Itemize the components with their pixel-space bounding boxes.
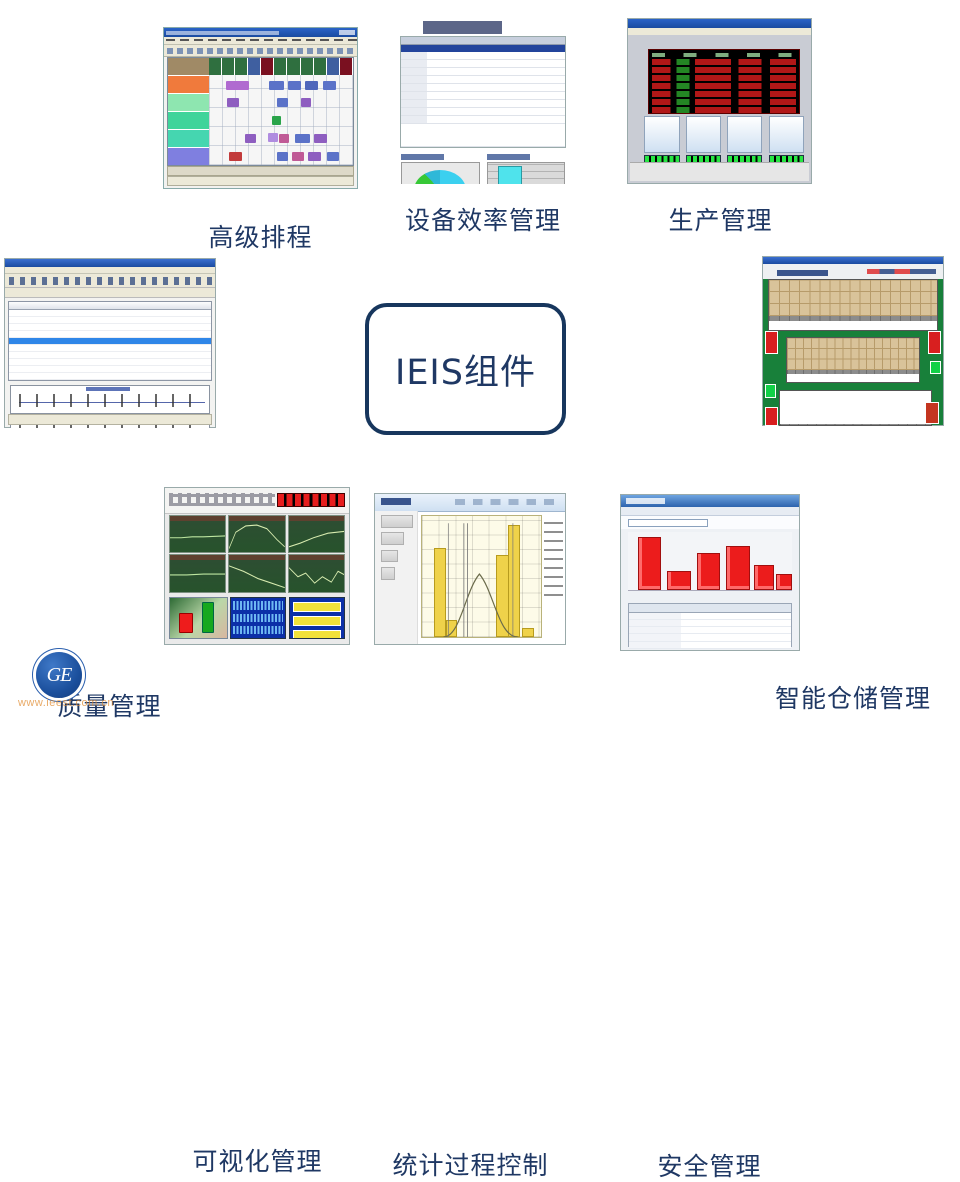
- quality-data-grid[interactable]: [8, 301, 212, 381]
- table-row[interactable]: [401, 45, 565, 52]
- module-quality-management[interactable]: 质量管理: [4, 258, 216, 428]
- module-safety-management[interactable]: 安全管理: [620, 494, 800, 651]
- pie-chart-caption: [401, 154, 444, 160]
- dashboard-toolbar: [165, 488, 349, 514]
- screenshot-quality-management: [4, 258, 216, 428]
- center-node-label: IEIS组件: [395, 344, 536, 395]
- report-title: [404, 21, 562, 34]
- screenshot-equipment-efficiency: [394, 18, 572, 184]
- table-row[interactable]: [629, 634, 791, 641]
- table-row[interactable]: [629, 620, 791, 627]
- gauge-row: [644, 116, 803, 154]
- rack-zone-1[interactable]: [768, 279, 937, 331]
- table-row[interactable]: [401, 60, 565, 68]
- rack-zone-3[interactable]: [779, 390, 932, 426]
- accident-bar-chart: [628, 532, 792, 590]
- pie-slices: [414, 170, 466, 184]
- trend-chart-grid: [169, 515, 346, 593]
- bar-chart-card: [487, 154, 566, 184]
- menu-bar: [628, 28, 811, 35]
- table-row[interactable]: [9, 310, 211, 317]
- table-row[interactable]: [9, 317, 211, 324]
- oee-report: [394, 18, 572, 184]
- table-row-selected[interactable]: [9, 338, 211, 345]
- screenshot-visual-management: [164, 487, 350, 645]
- table-row[interactable]: [401, 116, 565, 124]
- exit-marker: [928, 331, 941, 353]
- window-titlebar: [763, 257, 943, 264]
- filter-bar[interactable]: [5, 288, 215, 298]
- table-row[interactable]: [401, 92, 565, 100]
- tool-bar: [164, 45, 357, 57]
- statistics-panel: [544, 518, 563, 596]
- filter-bar[interactable]: [621, 516, 799, 528]
- kpi-panel-row: [169, 597, 346, 639]
- table-row[interactable]: [401, 76, 565, 84]
- table-row[interactable]: [629, 642, 791, 649]
- page-title: [381, 498, 411, 505]
- gauge: [769, 116, 804, 154]
- module-production-management[interactable]: 生产管理: [627, 18, 812, 184]
- trend-chart: [169, 554, 227, 592]
- table-row[interactable]: [9, 366, 211, 373]
- visual-dashboard: [164, 487, 350, 645]
- center-node-ieis[interactable]: IEIS组件: [365, 303, 566, 435]
- warehouse-window: [762, 256, 944, 426]
- gauge: [644, 116, 679, 154]
- menu-bar: [621, 507, 799, 516]
- led-scroll-banner: [277, 493, 345, 507]
- table-row[interactable]: [401, 68, 565, 76]
- trend-chart: [228, 554, 286, 592]
- gantt-window: [163, 27, 358, 189]
- trend-chart: [288, 515, 346, 553]
- exit-marker: [765, 407, 778, 425]
- screenshot-safety-management: [620, 494, 800, 651]
- table-row[interactable]: [9, 352, 211, 359]
- gauge: [727, 116, 762, 154]
- watermark-url: www.ieest.com.cn: [6, 697, 126, 709]
- safety-window: [620, 494, 800, 651]
- table-row[interactable]: [9, 359, 211, 366]
- table-row[interactable]: [401, 100, 565, 108]
- table-header: [9, 302, 211, 310]
- module-visual-management[interactable]: 可视化管理: [164, 487, 350, 645]
- window-titlebar: [5, 259, 215, 267]
- module-statistical-process-control[interactable]: 统计过程控制: [374, 493, 566, 645]
- bar-chart: [487, 162, 566, 184]
- module-equipment-efficiency[interactable]: 设备效率管理: [394, 18, 572, 184]
- caption-advanced-scheduling: 高级排程: [133, 223, 388, 253]
- control-chart-mean: [10, 385, 210, 414]
- led-display: [648, 49, 800, 115]
- table-header: [629, 604, 791, 613]
- table-row[interactable]: [9, 345, 211, 352]
- kpi-blue-panel: [230, 597, 286, 639]
- gauge: [686, 116, 721, 154]
- caption-safety-management: 安全管理: [612, 1152, 807, 1182]
- logo-letters: GE: [47, 664, 72, 687]
- kpi-led-panel: [289, 597, 345, 639]
- caption-smart-warehouse: 智能仓储管理: [757, 684, 949, 714]
- production-board-window: [627, 18, 812, 184]
- histogram-plot: [421, 515, 543, 638]
- screenshot-production-management: [627, 18, 812, 184]
- table-row[interactable]: [9, 380, 211, 381]
- spc-header: [375, 494, 565, 512]
- module-advanced-scheduling[interactable]: 高级排程: [163, 27, 358, 189]
- spc-window: [374, 493, 566, 645]
- caption-statistical-process-control: 统计过程控制: [358, 1151, 583, 1181]
- gantt-grid: [209, 75, 353, 165]
- pie-chart: [401, 162, 480, 184]
- sidebar-button[interactable]: [381, 567, 395, 580]
- timeline-header: [209, 58, 353, 75]
- pie-chart-card: [401, 154, 480, 184]
- forklift-marker: [925, 402, 940, 424]
- kpi-bar-panel: [169, 597, 228, 639]
- caption-production-management: 生产管理: [633, 206, 808, 236]
- tool-bar: [5, 274, 215, 288]
- menu-bar: [164, 37, 357, 45]
- status-bar: [167, 176, 354, 186]
- filter-select[interactable]: [628, 519, 708, 527]
- caption-equipment-efficiency: 设备效率管理: [378, 206, 588, 236]
- sidebar-button[interactable]: [381, 515, 414, 528]
- map-title: [777, 270, 827, 276]
- table-row[interactable]: [401, 84, 565, 92]
- table-header: [401, 37, 565, 45]
- accident-table[interactable]: [628, 603, 792, 647]
- gantt-timeline: [209, 58, 353, 165]
- trend-chart: [169, 515, 227, 553]
- gantt-legend-bar: [167, 166, 354, 176]
- resource-column: [168, 58, 209, 165]
- window-titlebar: [621, 495, 799, 507]
- filter-controls[interactable]: [455, 499, 554, 505]
- table-row[interactable]: [629, 613, 791, 620]
- company-logo: GE: [36, 652, 82, 698]
- toolbar-icons: [169, 493, 276, 506]
- screenshot-advanced-scheduling: [163, 27, 358, 189]
- table-row[interactable]: [629, 627, 791, 634]
- table-row[interactable]: [401, 108, 565, 116]
- fault-table: [400, 36, 566, 148]
- menu-bar: [5, 267, 215, 274]
- gantt-area: [167, 57, 354, 166]
- screenshot-smart-warehouse: [762, 256, 944, 426]
- slide-canvas: 高级排程: [0, 0, 960, 720]
- table-row[interactable]: [9, 373, 211, 380]
- table-row[interactable]: [9, 324, 211, 331]
- module-smart-warehouse[interactable]: 智能仓储管理: [762, 256, 944, 426]
- spc-sidebar[interactable]: [375, 511, 418, 645]
- trend-chart: [228, 515, 286, 553]
- status-bar: [630, 162, 809, 181]
- table-row[interactable]: [9, 331, 211, 338]
- status-bar: [8, 414, 212, 425]
- legend-strip: [867, 269, 935, 274]
- warehouse-floor: [763, 279, 943, 425]
- window-titlebar: [164, 28, 357, 37]
- sidebar-button[interactable]: [381, 550, 398, 563]
- entry-marker: [930, 361, 941, 375]
- entry-marker: [765, 384, 776, 398]
- exit-marker: [765, 331, 778, 353]
- rack-zone-2[interactable]: [786, 337, 919, 383]
- table-row[interactable]: [401, 52, 565, 60]
- trend-chart: [288, 554, 346, 592]
- quality-window: [4, 258, 216, 428]
- screenshot-spc: [374, 493, 566, 645]
- window-titlebar: [628, 19, 811, 28]
- sidebar-button[interactable]: [381, 532, 404, 545]
- bar-chart-caption: [487, 154, 530, 160]
- caption-visual-management: 可视化管理: [150, 1147, 365, 1177]
